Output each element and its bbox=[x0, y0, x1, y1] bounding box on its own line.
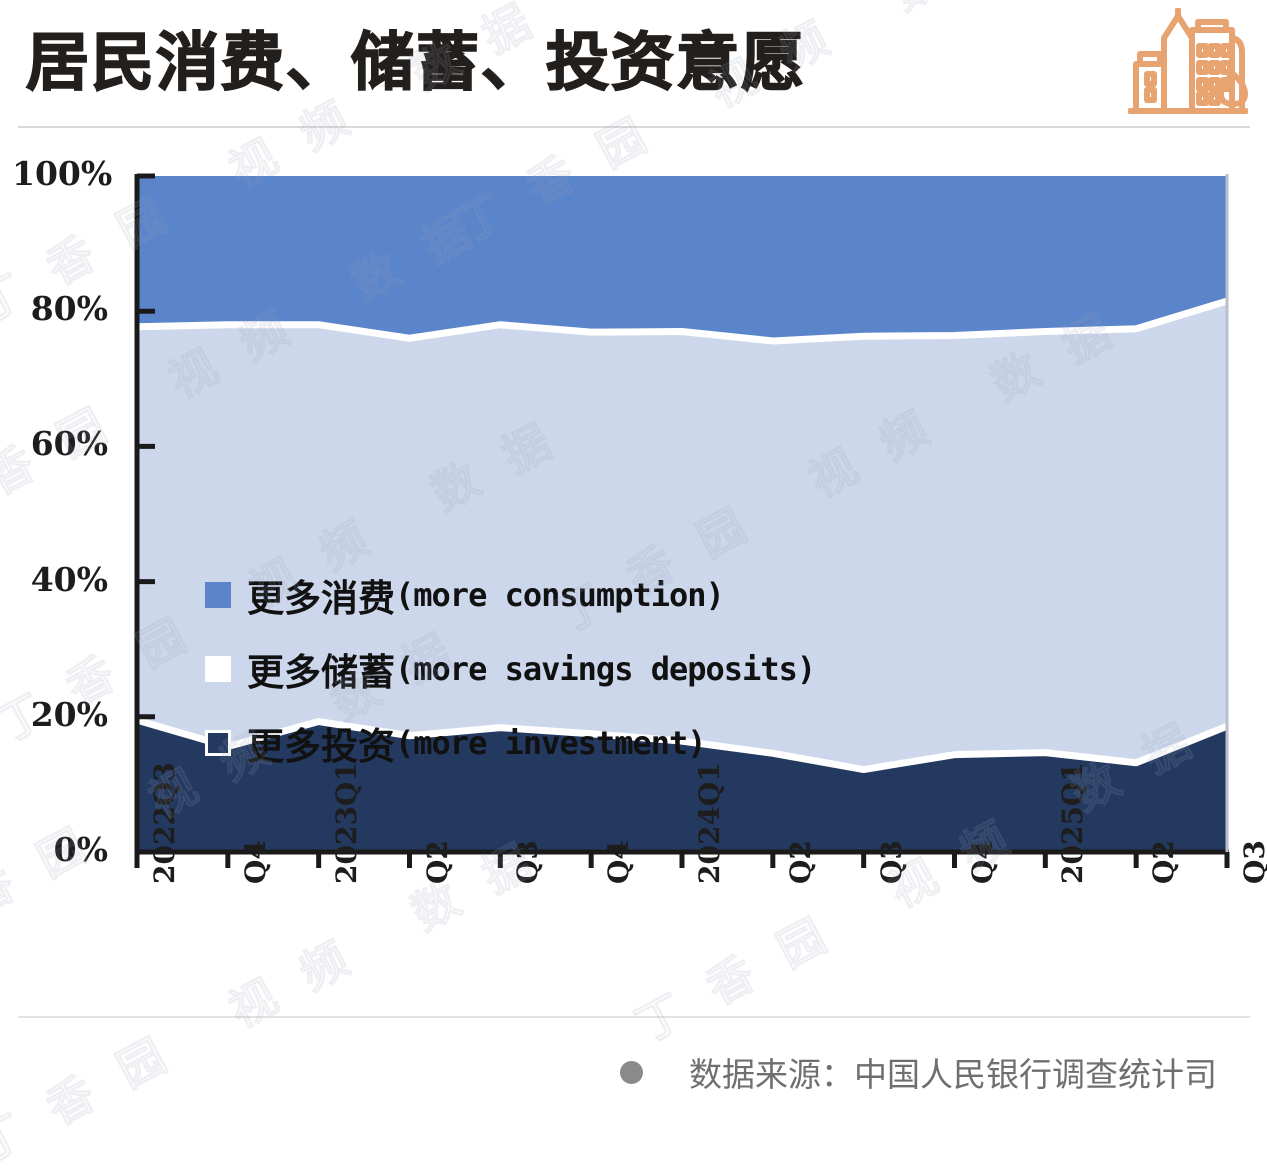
x-axis-tick-label: 2024Q1 bbox=[693, 762, 726, 884]
x-axis-tick-label: 2025Q1 bbox=[1056, 762, 1089, 884]
legend-label-cn: 更多消费 bbox=[247, 568, 395, 622]
source-text: 数据来源：中国人民银行调查统计司 bbox=[689, 1048, 1217, 1096]
x-axis-tick-label: Q2 bbox=[784, 840, 817, 884]
city-buildings-icon bbox=[1128, 8, 1248, 120]
legend-label-cn: 更多投资 bbox=[247, 716, 395, 770]
y-axis-tick-label: 80% bbox=[12, 289, 108, 328]
x-axis-tick-label: Q2 bbox=[1147, 840, 1180, 884]
legend-item-investment[interactable]: 更多投资 (more investment) bbox=[205, 706, 815, 780]
legend-swatch-investment bbox=[205, 730, 231, 756]
footer-divider bbox=[18, 1016, 1250, 1018]
x-axis-tick-label: Q4 bbox=[966, 840, 999, 884]
area-consumption bbox=[137, 176, 1227, 341]
x-axis-tick-label: Q4 bbox=[602, 840, 635, 884]
legend-label-en: (more consumption) bbox=[395, 576, 724, 614]
x-axis-tick-label: 2023Q1 bbox=[330, 762, 363, 884]
x-axis-tick-label: Q3 bbox=[1238, 840, 1267, 884]
page-title: 居民消费、储蓄、投资意愿 bbox=[26, 20, 806, 106]
y-axis-tick-label: 60% bbox=[12, 424, 108, 463]
chart-area: 0%20%40%60%80%100% 2022Q3Q42023Q1Q2Q3Q42… bbox=[0, 128, 1267, 1038]
x-axis-tick-label: Q2 bbox=[421, 840, 454, 884]
legend-label-en: (more savings deposits) bbox=[395, 650, 815, 688]
x-axis-tick-label: Q3 bbox=[875, 840, 908, 884]
y-axis-tick-label: 20% bbox=[12, 695, 108, 734]
legend-swatch-savings bbox=[205, 656, 231, 682]
chart-source: 数据来源：中国人民银行调查统计司 bbox=[620, 1048, 1217, 1096]
x-axis-tick-label: 2022Q3 bbox=[148, 762, 181, 884]
legend-label-en: (more investment) bbox=[395, 724, 706, 762]
chart-legend: 更多消费 (more consumption) 更多储蓄 (more savin… bbox=[205, 558, 815, 780]
y-axis-tick-label: 0% bbox=[12, 830, 108, 869]
y-axis-tick-label: 40% bbox=[12, 560, 108, 599]
legend-item-savings[interactable]: 更多储蓄 (more savings deposits) bbox=[205, 632, 815, 706]
x-axis-tick-label: Q4 bbox=[239, 840, 272, 884]
y-axis-tick-label: 100% bbox=[12, 154, 108, 193]
x-axis-tick-label: Q3 bbox=[511, 840, 544, 884]
legend-label-cn: 更多储蓄 bbox=[247, 642, 395, 696]
legend-item-consumption[interactable]: 更多消费 (more consumption) bbox=[205, 558, 815, 632]
legend-swatch-consumption bbox=[205, 582, 231, 608]
bullet-dot-icon bbox=[620, 1061, 643, 1084]
page-header: 居民消费、储蓄、投资意愿 bbox=[0, 0, 1267, 128]
